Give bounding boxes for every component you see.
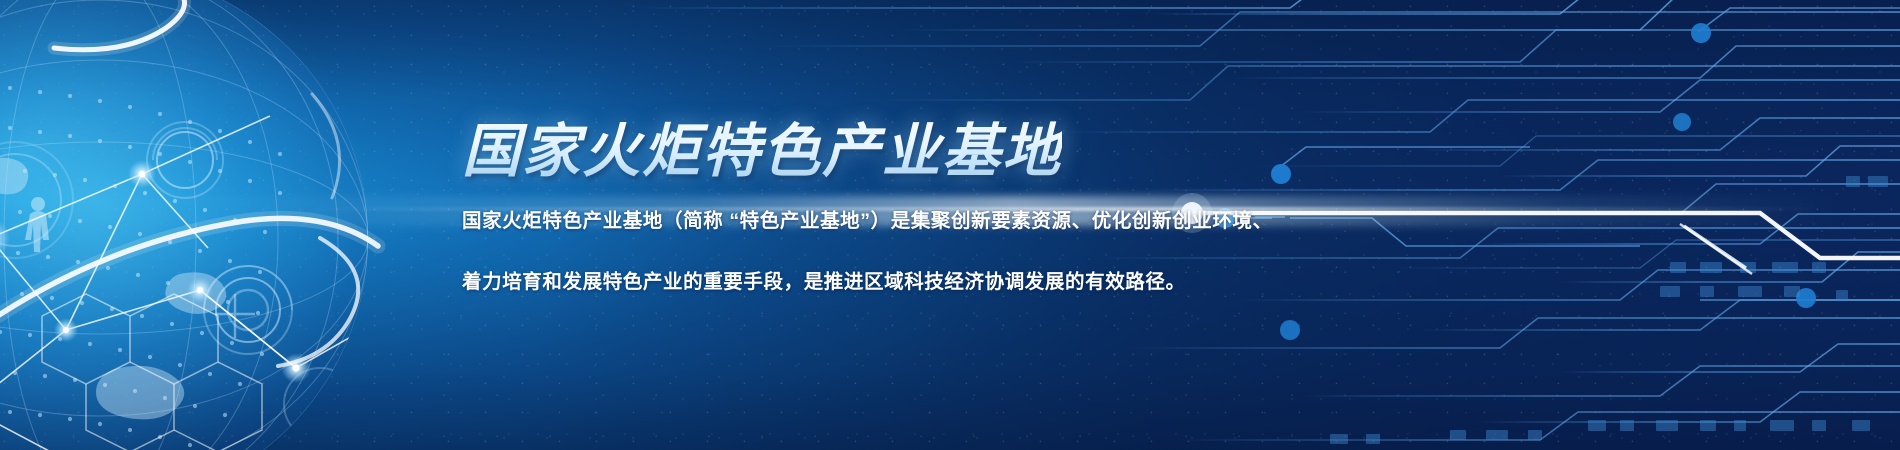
description-line-2: 着力培育和发展特色产业的重要手段，是推进区域科技经济协调发展的有效路径。 [462,273,1462,293]
hero-banner: 国家火炬特色产业基地 国家火炬特色产业基地 国家火炬特色产业基地（简称 “特色产… [0,0,1900,450]
banner-content: 国家火炬特色产业基地 国家火炬特色产业基地 国家火炬特色产业基地（简称 “特色产… [0,0,1900,450]
description-line-1: 国家火炬特色产业基地（简称 “特色产业基地”）是集聚创新要素资源、优化创新创业环… [462,212,1462,232]
page-title: 国家火炬特色产业基地 [462,104,1062,188]
banner-description: 国家火炬特色产业基地（简称 “特色产业基地”）是集聚创新要素资源、优化创新创业环… [462,212,1462,292]
